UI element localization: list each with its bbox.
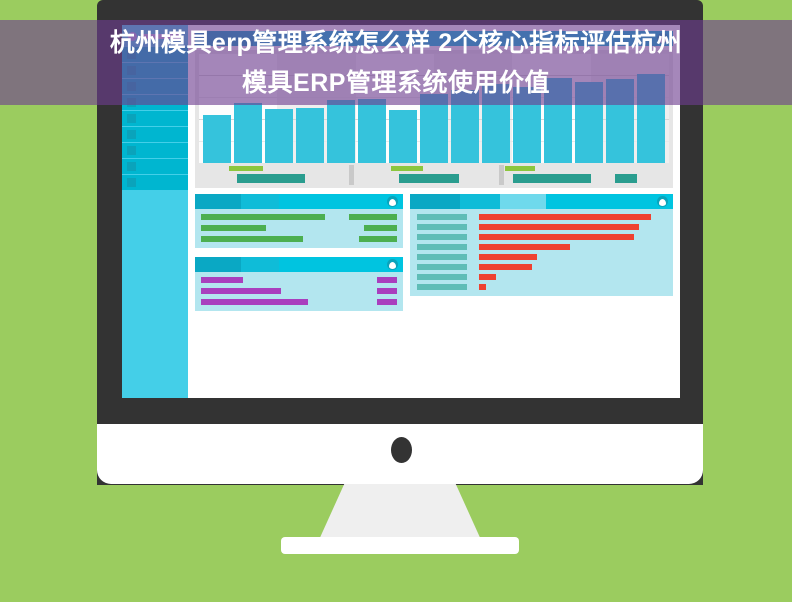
- list-item-label: [201, 299, 308, 305]
- list-item[interactable]: [201, 299, 397, 305]
- list-item-value: [364, 225, 397, 231]
- legend-label: [237, 174, 305, 183]
- right-cards-column: [410, 194, 673, 311]
- card-menu-icon[interactable]: [657, 196, 668, 207]
- list-item-label: [201, 225, 266, 231]
- chart-bar: [296, 108, 324, 163]
- ranking-row-bar: [479, 284, 486, 290]
- chart-bar: [234, 103, 262, 164]
- ranking-row[interactable]: [417, 224, 666, 230]
- ranking-row[interactable]: [417, 264, 666, 270]
- chart-bar: [358, 99, 386, 163]
- monitor-stand: [318, 484, 482, 542]
- header-segment: [195, 257, 241, 272]
- chart-bar: [203, 115, 231, 163]
- ranking-row[interactable]: [417, 254, 666, 260]
- ranking-row-bar: [479, 254, 537, 260]
- sidebar-item-icon: [127, 178, 136, 187]
- sidebar-item-6[interactable]: [122, 127, 188, 142]
- chart-bar: [265, 109, 293, 163]
- list-item[interactable]: [201, 236, 397, 242]
- ranking-row-bar: [479, 264, 532, 270]
- title-line-2: 模具ERP管理系统使用价值: [242, 63, 550, 103]
- legend-label: [615, 174, 637, 183]
- list-item-label: [201, 288, 281, 294]
- sidebar-item-5[interactable]: [122, 111, 188, 126]
- title-line-1: 杭州模具erp管理系统怎么样 2个核心指标评估杭州: [110, 23, 682, 63]
- ranking-row[interactable]: [417, 234, 666, 240]
- sidebar-item-icon: [127, 114, 136, 123]
- legend-tag: [391, 166, 423, 171]
- ranking-row[interactable]: [417, 244, 666, 250]
- red-ranking-card-header: [410, 194, 673, 209]
- list-item-value: [377, 299, 397, 305]
- list-item-value: [377, 277, 397, 283]
- ranking-row-label: [417, 284, 467, 290]
- list-item-label: [201, 236, 303, 242]
- sidebar-item-8[interactable]: [122, 159, 188, 174]
- legend-label: [399, 174, 459, 183]
- ranking-row-label: [417, 244, 467, 250]
- list-item-value: [349, 214, 397, 220]
- ranking-row-bar: [479, 214, 651, 220]
- chart-bar: [327, 100, 355, 163]
- ranking-row[interactable]: [417, 214, 666, 220]
- purple-list-card: [195, 257, 403, 311]
- header-segment: [460, 194, 500, 209]
- card-menu-icon[interactable]: [387, 196, 398, 207]
- chart-bar: [389, 110, 417, 163]
- screenshot-canvas: 杭州模具erp管理系统怎么样 2个核心指标评估杭州 模具ERP管理系统使用价值: [0, 0, 792, 602]
- list-item-label: [201, 277, 243, 283]
- list-item-label: [201, 214, 325, 220]
- list-item[interactable]: [201, 225, 397, 231]
- monitor-logo-icon: [391, 437, 412, 463]
- ranking-row[interactable]: [417, 274, 666, 280]
- ranking-row-label: [417, 254, 467, 260]
- purple-list-body: [195, 272, 403, 311]
- purple-list-card-header: [195, 257, 403, 272]
- ranking-row-bar: [479, 224, 639, 230]
- bar-chart-legend: [199, 164, 669, 189]
- ranking-row[interactable]: [417, 284, 666, 290]
- list-item-value: [359, 236, 397, 242]
- ranking-row-label: [417, 214, 467, 220]
- ranking-row-label: [417, 224, 467, 230]
- card-menu-icon[interactable]: [387, 259, 398, 270]
- green-list-card: [195, 194, 403, 248]
- ranking-row-label: [417, 274, 467, 280]
- left-cards-column: [195, 194, 403, 311]
- legend-tag: [505, 166, 535, 171]
- monitor-base: [281, 537, 519, 554]
- header-segment: [241, 194, 279, 209]
- sidebar-item-icon: [127, 130, 136, 139]
- red-ranking-body: [410, 209, 673, 296]
- legend-separator: [349, 165, 354, 185]
- list-item[interactable]: [201, 277, 397, 283]
- header-segment: [195, 194, 241, 209]
- ranking-row-bar: [479, 234, 634, 240]
- header-segment: [241, 257, 279, 272]
- red-ranking-card: [410, 194, 673, 296]
- list-item-value: [377, 288, 397, 294]
- ranking-row-label: [417, 264, 467, 270]
- green-list-card-header: [195, 194, 403, 209]
- header-segment: [500, 194, 546, 209]
- ranking-row-label: [417, 234, 467, 240]
- header-segment: [410, 194, 460, 209]
- ranking-row-bar: [479, 274, 496, 280]
- green-list-body: [195, 209, 403, 248]
- sidebar-item-7[interactable]: [122, 143, 188, 158]
- legend-label: [513, 174, 591, 183]
- sidebar-item-9[interactable]: [122, 175, 188, 190]
- legend-separator: [499, 165, 504, 185]
- list-item[interactable]: [201, 288, 397, 294]
- title-overlay: 杭州模具erp管理系统怎么样 2个核心指标评估杭州 模具ERP管理系统使用价值: [0, 20, 792, 105]
- legend-tag: [229, 166, 263, 171]
- sidebar-item-icon: [127, 146, 136, 155]
- list-item[interactable]: [201, 214, 397, 220]
- sidebar-item-icon: [127, 162, 136, 171]
- lower-cards-row: [195, 194, 673, 311]
- ranking-row-bar: [479, 244, 570, 250]
